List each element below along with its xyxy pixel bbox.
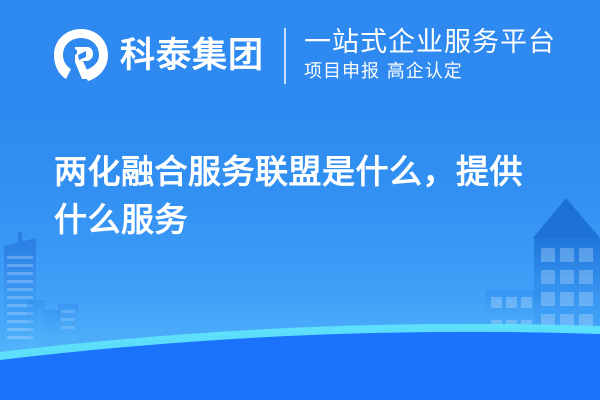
tagline-sub: 项目申报 高企认定 (304, 60, 556, 84)
tagline-main: 一站式企业服务平台 (304, 27, 556, 58)
page-title: 两化融合服务联盟是什么，提供 什么服务 (54, 148, 554, 244)
brand-divider (284, 28, 286, 84)
banner-header: 科泰集团 一站式企业服务平台 项目申报 高企认定 (0, 0, 600, 112)
brand-name: 科泰集团 (120, 39, 264, 74)
page-title-line-1: 两化融合服务联盟是什么，提供 (54, 148, 554, 196)
page-title-line-2: 什么服务 (54, 196, 554, 244)
tagline-block: 一站式企业服务平台 项目申报 高企认定 (304, 27, 556, 84)
circular-r-emblem-icon (52, 27, 110, 85)
promo-banner: 科泰集团 一站式企业服务平台 项目申报 高企认定 两化融合服务联盟是什么，提供 … (0, 0, 600, 400)
